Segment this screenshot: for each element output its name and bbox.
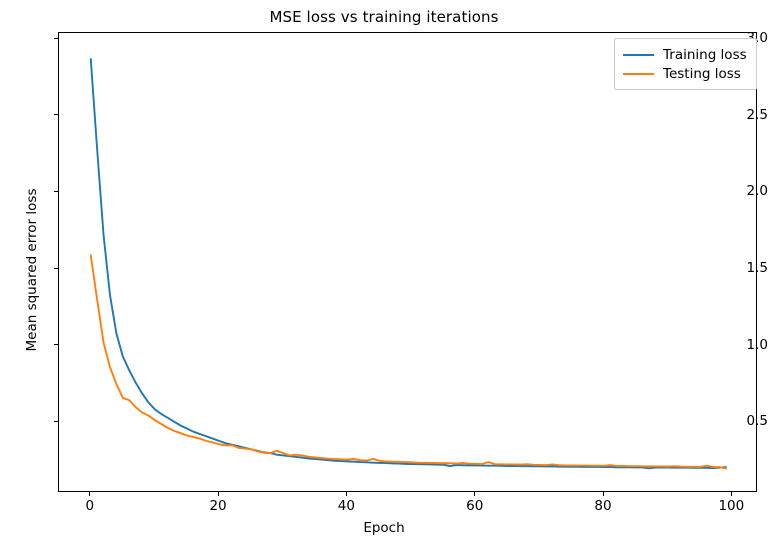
x-tick-label: 80 [594,498,611,514]
x-axis-label: Epoch [0,520,768,536]
chart-title: MSE loss vs training iterations [0,8,768,26]
x-tick-label: 0 [85,498,94,514]
legend-swatch-training-loss [623,54,654,56]
legend-label-testing-loss: Testing loss [663,66,741,82]
legend-item-training-loss[interactable]: Training loss [623,45,747,64]
line-training-loss [91,59,726,468]
x-tick-mark [603,492,604,496]
x-tick-mark [474,492,475,496]
plot-lines [59,33,758,493]
x-tick-mark [89,492,90,496]
y-tick-mark [54,114,58,115]
y-tick-label: 2.5 [728,107,768,123]
y-tick-mark [54,268,58,269]
y-tick-label: 1.5 [728,260,768,276]
y-tick-mark [54,38,58,39]
y-tick-mark [54,191,58,192]
x-tick-mark [346,492,347,496]
legend-swatch-testing-loss [623,73,654,75]
legend-label-training-loss: Training loss [663,47,747,63]
x-tick-label: 20 [209,498,226,514]
x-tick-label: 100 [718,498,744,514]
chart-figure: MSE loss vs training iterations 0.51.01.… [0,0,768,547]
legend-item-testing-loss[interactable]: Testing loss [623,64,747,83]
y-tick-mark [54,421,58,422]
x-tick-label: 60 [466,498,483,514]
y-tick-mark [54,344,58,345]
x-tick-label: 40 [338,498,355,514]
y-tick-label: 0.5 [728,413,768,429]
plot-axes [58,32,757,492]
chart-legend: Training loss Testing loss [614,38,757,90]
y-tick-label: 1.0 [728,337,768,353]
x-tick-mark [731,492,732,496]
x-tick-mark [218,492,219,496]
y-tick-label: 2.0 [728,183,768,199]
line-testing-loss [91,255,726,468]
y-axis-label: Mean squared error loss [24,150,40,390]
